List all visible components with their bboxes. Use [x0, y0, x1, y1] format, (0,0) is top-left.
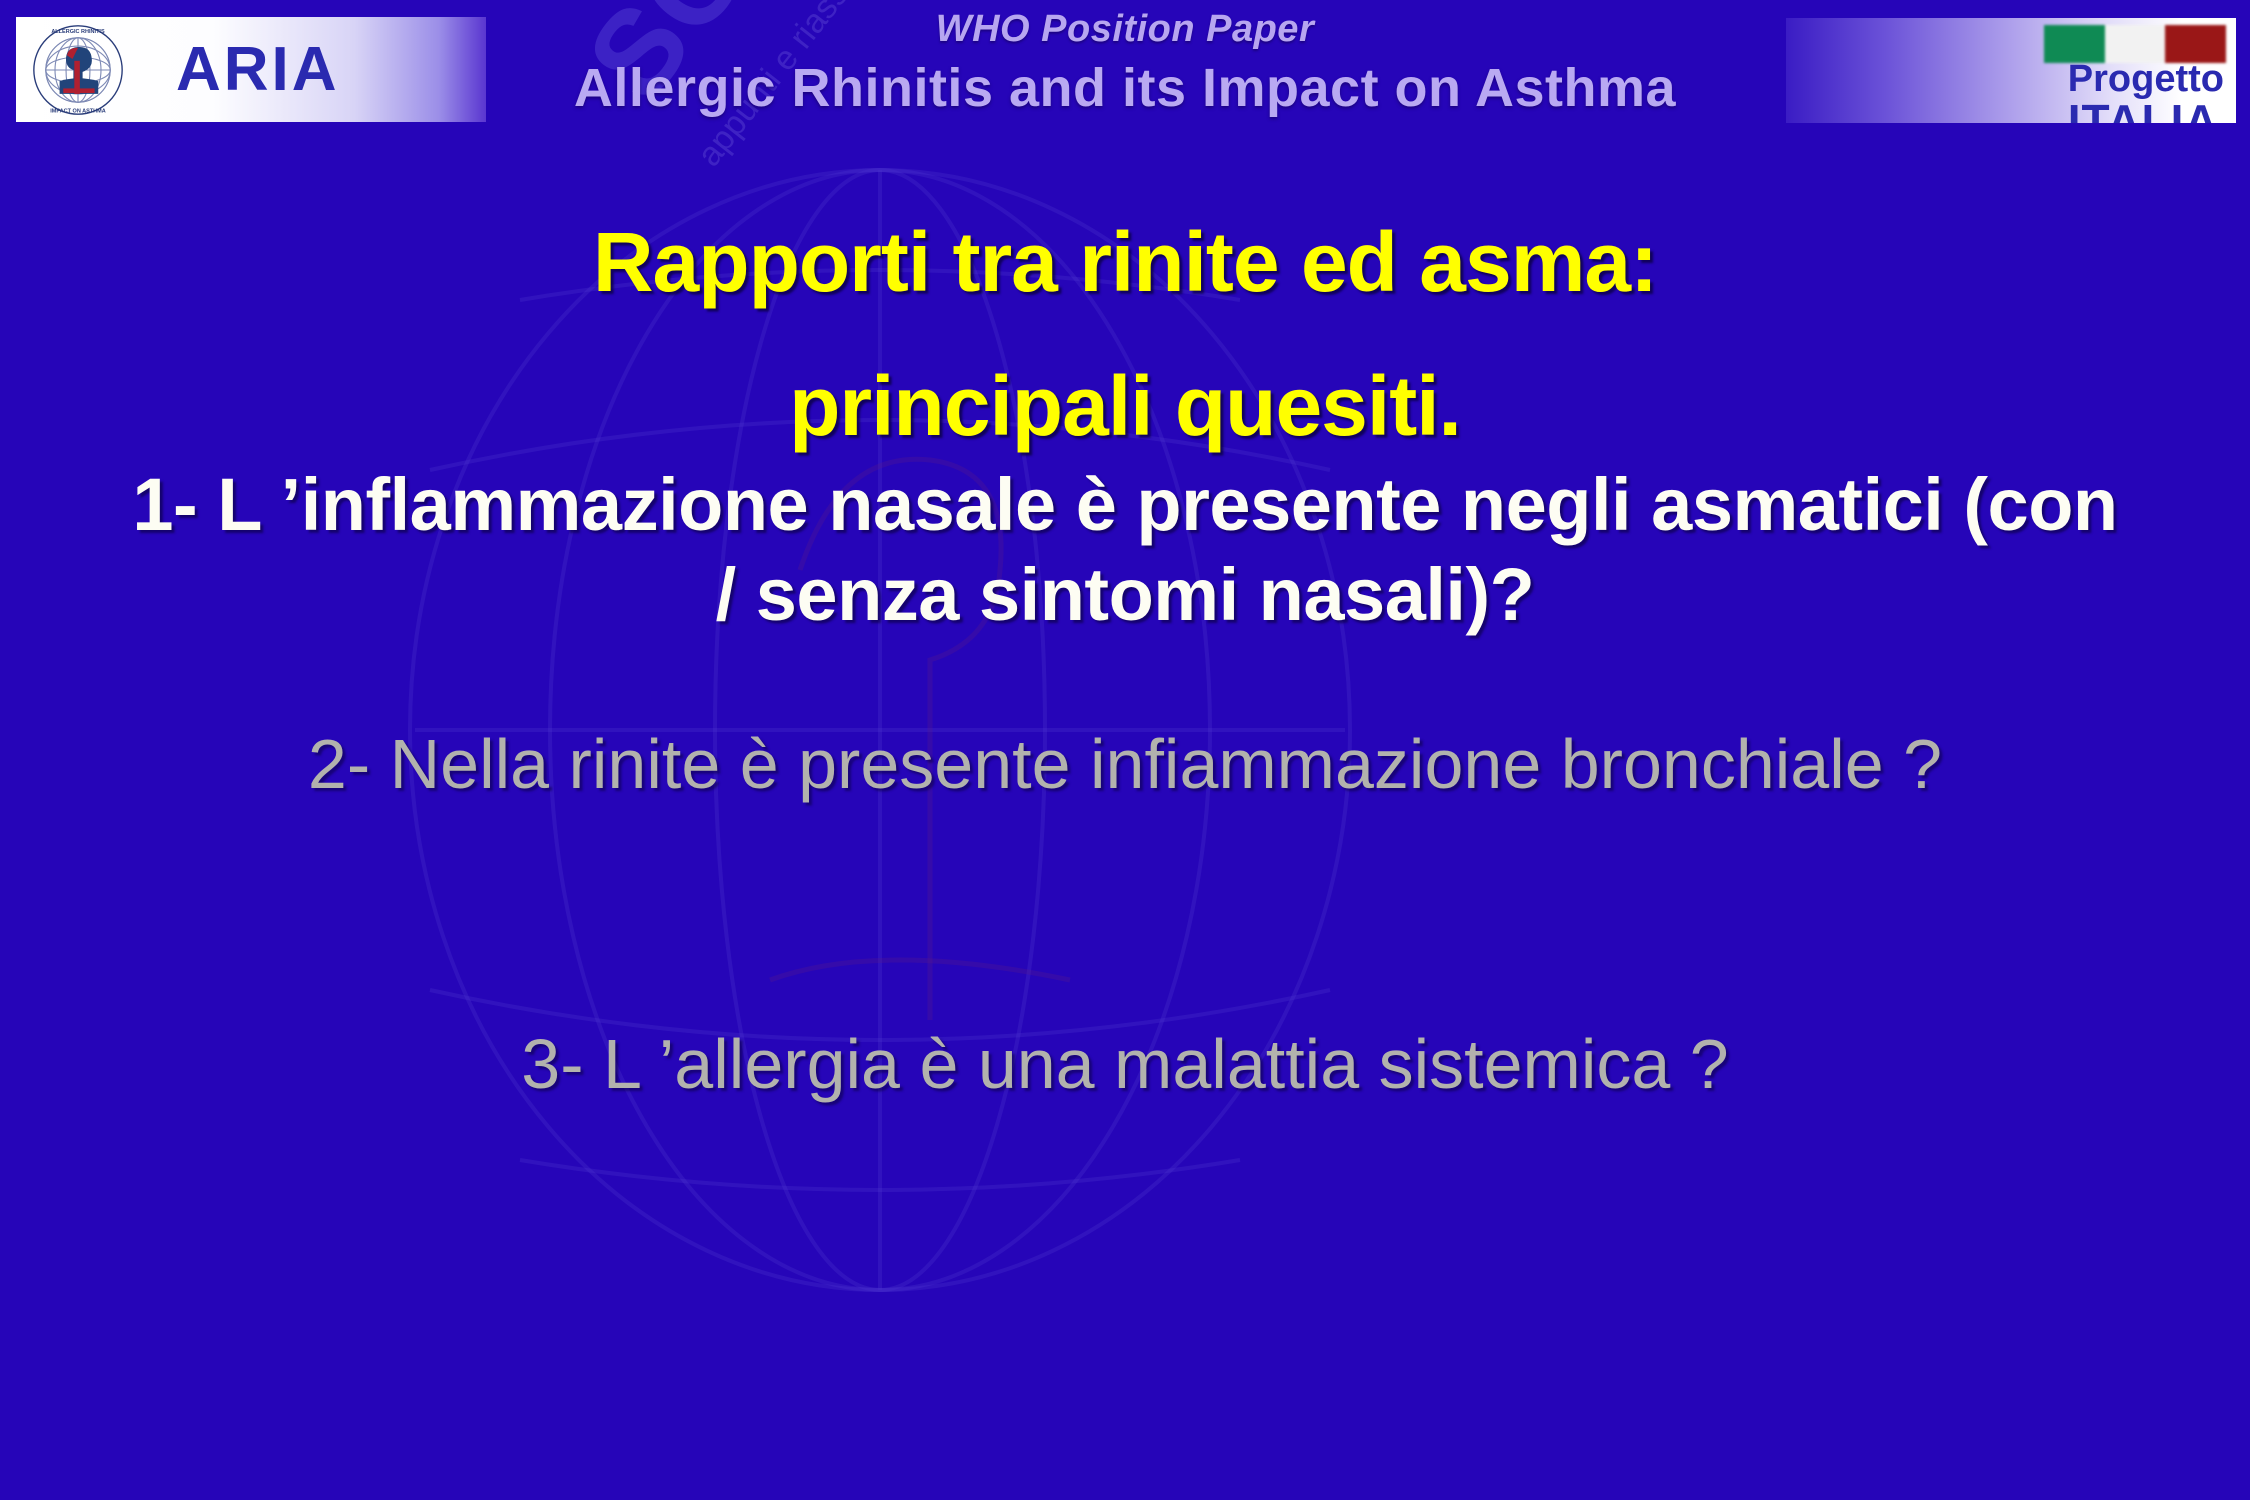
slide-title-line-2: principali quesiti.	[0, 334, 2250, 478]
progetto-italia-text: Progetto ITALIA	[2068, 60, 2224, 123]
question-item-2: 2- Nella rinite è presente infiammazione…	[210, 720, 2040, 810]
slide-header: ALLERGIC RHINITIS IMPACT ON ASTHMA ARIA …	[0, 0, 2250, 160]
progetto-italia-logo: Progetto ITALIA	[1786, 18, 2236, 123]
progetto-label: Progetto	[2068, 60, 2224, 98]
svg-text:ALLERGIC RHINITIS: ALLERGIC RHINITIS	[51, 29, 105, 35]
slide-title-line-1: Rapporti tra rinite ed asma:	[0, 190, 2250, 334]
slide-body: Rapporti tra rinite ed asma: principali …	[0, 160, 2250, 1500]
aria-logo-text: ARIA	[176, 34, 340, 105]
svg-text:IMPACT ON ASTHMA: IMPACT ON ASTHMA	[50, 108, 105, 114]
slide-title: Rapporti tra rinite ed asma: principali …	[0, 190, 2250, 479]
question-item-1: 1- L ’inflammazione nasale è presente ne…	[130, 460, 2120, 641]
presentation-slide: SCUOLA.net appunti e riassunti dello stu…	[0, 0, 2250, 1500]
who-position-paper-label: WHO Position Paper	[500, 8, 1750, 52]
header-title-block: WHO Position Paper Allergic Rhinitis and…	[500, 8, 1750, 120]
question-item-3: 3- L ’allergia è una malattia sistemica …	[210, 1020, 2040, 1110]
aria-logo: ALLERGIC RHINITIS IMPACT ON ASTHMA ARIA	[16, 17, 486, 122]
aria-globe-icon: ALLERGIC RHINITIS IMPACT ON ASTHMA	[32, 24, 124, 116]
italia-label: ITALIA	[2068, 98, 2224, 123]
aria-full-title-label: Allergic Rhinitis and its Impact on Asth…	[500, 56, 1750, 121]
